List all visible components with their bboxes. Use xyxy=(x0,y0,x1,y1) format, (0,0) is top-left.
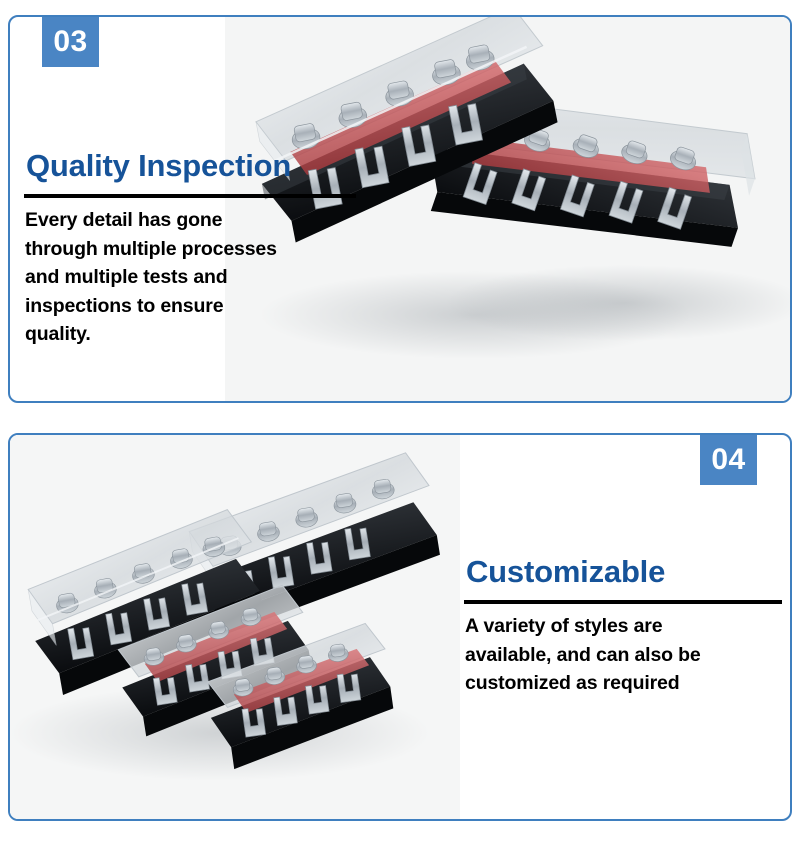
title-divider-rule xyxy=(24,194,356,198)
description-line: available, and can also be xyxy=(465,641,792,670)
panel-quality-inspection: 03 Quality Inspection Every detail has g… xyxy=(8,15,792,403)
description-line: customized as required xyxy=(465,669,792,698)
panel-description-customizable: A variety of styles are available, and c… xyxy=(465,612,792,698)
description-line: through multiple processes xyxy=(25,235,362,264)
step-number-badge-03: 03 xyxy=(42,17,99,67)
customizable-text-block: Customizable A variety of styles are ava… xyxy=(462,553,792,698)
panel-customizable: 04 Customizable A variety of styles are … xyxy=(8,433,792,821)
description-line: A variety of styles are xyxy=(465,612,792,641)
description-line: and multiple tests and xyxy=(25,263,362,292)
description-line: Every detail has gone xyxy=(25,206,362,235)
description-line: quality. xyxy=(25,320,362,349)
quality-inspection-text-block: Quality Inspection Every detail has gone… xyxy=(22,147,362,349)
step-number-badge-04: 04 xyxy=(700,435,757,485)
description-line: inspections to ensure xyxy=(25,292,362,321)
panel-description-quality-inspection: Every detail has gone through multiple p… xyxy=(25,206,362,349)
terminal-block-group-photo xyxy=(10,435,460,819)
title-divider-rule xyxy=(464,600,782,604)
panel-title-customizable: Customizable xyxy=(466,553,792,591)
panel-title-quality-inspection: Quality Inspection xyxy=(26,147,362,185)
